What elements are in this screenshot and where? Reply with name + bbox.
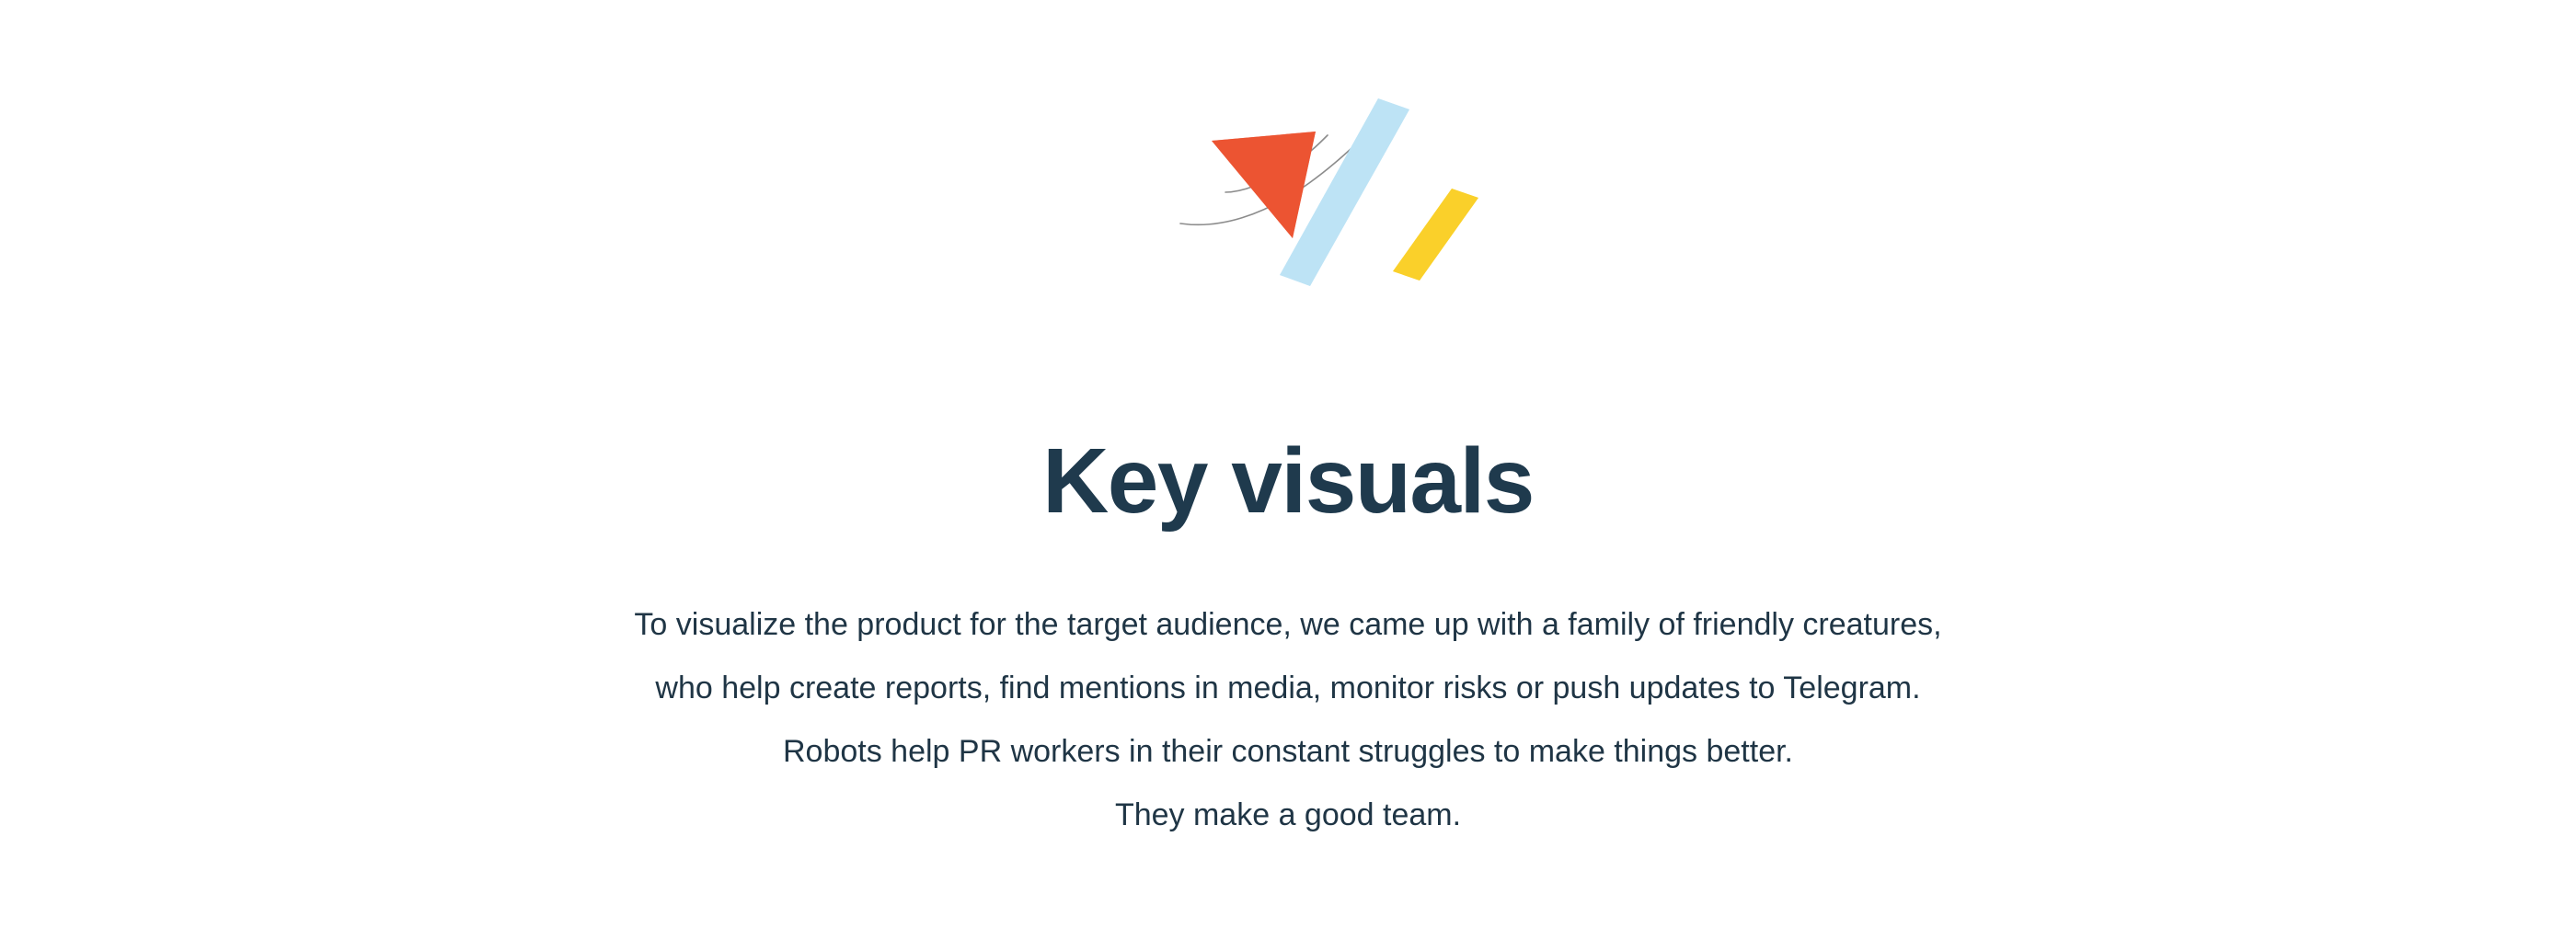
page-description: To visualize the product for the target … xyxy=(0,593,2576,847)
yellow-bar-icon xyxy=(1393,189,1478,281)
description-line: To visualize the product for the target … xyxy=(0,593,2576,657)
description-line: Robots help PR workers in their constant… xyxy=(0,720,2576,784)
page-title: Key visuals xyxy=(0,428,2576,534)
description-line: They make a good team. xyxy=(0,784,2576,847)
description-line: who help create reports, find mentions i… xyxy=(0,657,2576,720)
hero-illustration xyxy=(1155,87,1523,308)
key-visuals-section: Key visuals To visualize the product for… xyxy=(0,0,2576,940)
